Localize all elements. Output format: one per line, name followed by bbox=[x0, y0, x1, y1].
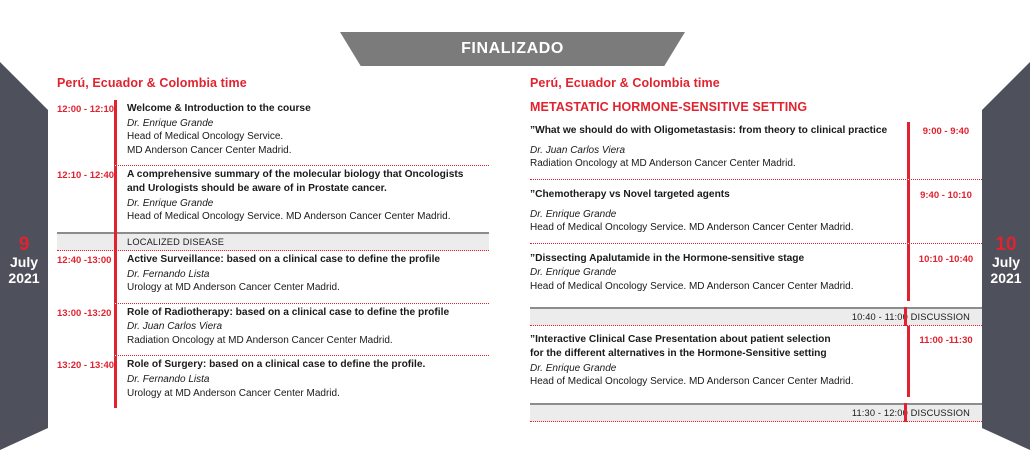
session-row[interactable]: ”Chemotherapy vs Novel targeted agents D… bbox=[530, 180, 982, 243]
timezone-title-left: Perú, Ecuador & Colombia time bbox=[57, 76, 489, 90]
session-row[interactable]: 13:20 - 13:40 Role of Surgery: based on … bbox=[57, 356, 489, 408]
day-tab-left-inner: 9 July 2021 bbox=[8, 234, 39, 287]
timezone-title-right: Perú, Ecuador & Colombia time bbox=[530, 76, 982, 90]
status-banner-label: FINALIZADO bbox=[461, 40, 564, 58]
session-speaker: Dr. Fernando Lista bbox=[127, 373, 489, 387]
session-affiliation: Urology at MD Anderson Cancer Center Mad… bbox=[127, 281, 489, 295]
discussion-band-accent-bar bbox=[904, 403, 907, 422]
section-band-label: LOCALIZED DISEASE bbox=[57, 237, 224, 247]
session-row[interactable]: 12:10 - 12:40 A comprehensive summary of… bbox=[57, 166, 489, 232]
session-title: ”Chemotherapy vs Novel targeted agents bbox=[530, 188, 899, 202]
session-time: 9:40 - 10:10 bbox=[910, 180, 982, 243]
session-affiliation: Head of Medical Oncology Service. MD And… bbox=[530, 221, 899, 235]
session-affiliation: Radiation Oncology at MD Anderson Cancer… bbox=[127, 334, 489, 348]
session-affiliation: Head of Medical Oncology Service. MD And… bbox=[530, 280, 899, 294]
session-affiliation: MD Anderson Cancer Center Madrid. bbox=[127, 144, 489, 158]
session-title: ”What we should do with Oligometastasis:… bbox=[530, 124, 899, 138]
day-tab-left-number: 9 bbox=[8, 234, 39, 255]
agenda-column-day9: Perú, Ecuador & Colombia time 12:00 - 12… bbox=[57, 76, 489, 408]
session-time: 12:10 - 12:40 bbox=[57, 166, 114, 232]
section-band-accent-bar bbox=[114, 232, 117, 251]
session-speaker: Dr. Enrique Grande bbox=[530, 208, 899, 222]
session-speaker: Dr. Fernando Lista bbox=[127, 268, 489, 282]
session-title: Welcome & Introduction to the course bbox=[127, 102, 489, 116]
discussion-band: 10:40 - 11:00 DISCUSSION bbox=[530, 307, 982, 326]
session-row[interactable]: ”Interactive Clinical Case Presentation … bbox=[530, 326, 982, 397]
session-body: Role of Radiotherapy: based on a clinica… bbox=[117, 304, 489, 356]
day-tab-right-inner: 10 July 2021 bbox=[990, 234, 1021, 287]
session-body: Active Surveillance: based on a clinical… bbox=[117, 251, 489, 303]
session-time: 12:40 -13:00 bbox=[57, 251, 114, 303]
discussion-band-label: 10:40 - 11:00 DISCUSSION bbox=[852, 312, 982, 322]
session-body: ”What we should do with Oligometastasis:… bbox=[530, 122, 907, 179]
session-speaker: Dr. Enrique Grande bbox=[530, 362, 899, 376]
section-band: LOCALIZED DISEASE bbox=[57, 232, 489, 251]
session-title: ”Dissecting Apalutamide in the Hormone-s… bbox=[530, 252, 899, 266]
day-tab-right-year: 2021 bbox=[990, 271, 1021, 287]
session-row[interactable]: 13:00 -13:20 Role of Radiotherapy: based… bbox=[57, 304, 489, 356]
day-tab-left-year: 2021 bbox=[8, 271, 39, 287]
session-time: 13:20 - 13:40 bbox=[57, 356, 114, 408]
session-speaker: Dr. Enrique Grande bbox=[127, 117, 489, 131]
status-banner: FINALIZADO bbox=[340, 32, 685, 66]
session-affiliation: Urology at MD Anderson Cancer Center Mad… bbox=[127, 387, 489, 401]
session-speaker: Dr. Enrique Grande bbox=[127, 197, 489, 211]
session-time: 12:00 - 12:10 bbox=[57, 100, 114, 165]
session-time: 11:00 -11:30 bbox=[910, 326, 982, 397]
day-tab-right[interactable]: 10 July 2021 bbox=[982, 62, 1030, 450]
session-body: ”Interactive Clinical Case Presentation … bbox=[530, 326, 907, 397]
session-row[interactable]: 12:40 -13:00 Active Surveillance: based … bbox=[57, 251, 489, 303]
discussion-band: 11:30 - 12:00 DISCUSSION bbox=[530, 403, 982, 422]
session-time: 9:00 - 9:40 bbox=[910, 122, 982, 179]
session-title: A comprehensive summary of the molecular… bbox=[127, 168, 489, 182]
day-tab-right-month: July bbox=[990, 255, 1021, 271]
session-title: Role of Radiotherapy: based on a clinica… bbox=[127, 306, 489, 320]
section-title-metastatic: METASTATIC HORMONE-SENSITIVE SETTING bbox=[530, 100, 982, 114]
agenda-page: FINALIZADO 9 July 2021 10 July 2021 Perú… bbox=[0, 0, 1030, 450]
day-tab-right-number: 10 bbox=[990, 234, 1021, 255]
session-body: Welcome & Introduction to the course Dr.… bbox=[117, 100, 489, 165]
session-title: Role of Surgery: based on a clinical cas… bbox=[127, 358, 489, 372]
session-time: 10:10 -10:40 bbox=[910, 244, 982, 302]
session-title: ”Interactive Clinical Case Presentation … bbox=[530, 333, 899, 347]
session-time: 13:00 -13:20 bbox=[57, 304, 114, 356]
session-title: and Urologists should be aware of in Pro… bbox=[127, 182, 489, 196]
session-speaker: Dr. Juan Carlos Viera bbox=[530, 144, 899, 158]
session-affiliation: Head of Medical Oncology Service. MD And… bbox=[530, 375, 899, 389]
session-row[interactable]: ”What we should do with Oligometastasis:… bbox=[530, 122, 982, 179]
session-row[interactable]: ”Dissecting Apalutamide in the Hormone-s… bbox=[530, 244, 982, 302]
session-body: ”Chemotherapy vs Novel targeted agents D… bbox=[530, 180, 907, 243]
session-body: ”Dissecting Apalutamide in the Hormone-s… bbox=[530, 244, 907, 302]
discussion-band-label: 11:30 - 12:00 DISCUSSION bbox=[852, 408, 982, 418]
session-speaker: Dr. Enrique Grande bbox=[530, 266, 899, 280]
session-affiliation: Head of Medical Oncology Service. MD And… bbox=[127, 210, 489, 224]
agenda-column-day10: Perú, Ecuador & Colombia time METASTATIC… bbox=[530, 76, 982, 422]
discussion-band-accent-bar bbox=[904, 307, 907, 326]
day-tab-left-month: July bbox=[8, 255, 39, 271]
session-affiliation: Radiation Oncology at MD Anderson Cancer… bbox=[530, 157, 899, 171]
session-speaker: Dr. Juan Carlos Viera bbox=[127, 320, 489, 334]
session-affiliation: Head of Medical Oncology Service. bbox=[127, 130, 489, 144]
session-body: A comprehensive summary of the molecular… bbox=[117, 166, 489, 232]
day-tab-left[interactable]: 9 July 2021 bbox=[0, 62, 48, 450]
session-row[interactable]: 12:00 - 12:10 Welcome & Introduction to … bbox=[57, 100, 489, 165]
session-body: Role of Surgery: based on a clinical cas… bbox=[117, 356, 489, 408]
session-title: Active Surveillance: based on a clinical… bbox=[127, 253, 489, 267]
session-title: for the different alternatives in the Ho… bbox=[530, 347, 899, 361]
